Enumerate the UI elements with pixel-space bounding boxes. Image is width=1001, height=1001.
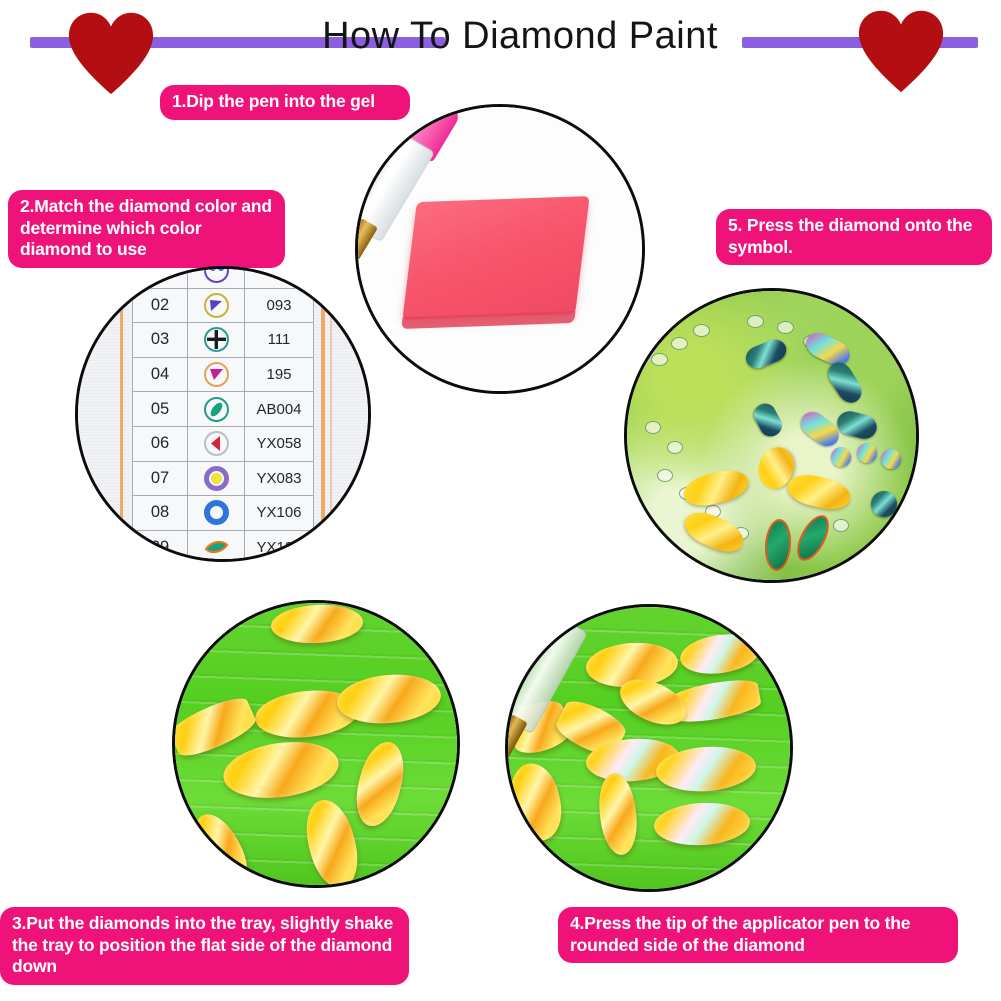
table-row: 01 028: [132, 266, 314, 289]
row-code: YX083: [245, 462, 314, 496]
step-4-photo: [505, 604, 793, 892]
row-number: 08: [132, 496, 188, 530]
row-code: AB004: [245, 392, 314, 426]
chart-edge-strip-left: [120, 269, 123, 559]
infographic-root: How To Diamond Paint 1.Dip the pen into …: [0, 0, 1001, 1001]
table-row: 05 AB004: [132, 392, 314, 427]
row-symbol: [188, 266, 245, 288]
row-number: 04: [132, 358, 188, 392]
table-row: 08 YX106: [132, 496, 314, 531]
step-1-photo: [355, 104, 645, 394]
row-code: 093: [245, 289, 314, 323]
thick-ring-icon: [204, 500, 229, 525]
yellow-diamonds-in-green-tray-image: [175, 603, 457, 885]
step-4-label: 4.Press the tip of the applicator pen to…: [558, 907, 958, 963]
table-row: 09 YX125: [132, 531, 314, 562]
double-dot-circle-icon: [204, 266, 229, 283]
table-row: 04 195: [132, 358, 314, 393]
plus-cross-icon: [204, 327, 229, 352]
row-code: YX106: [245, 496, 314, 530]
pink-gel-pad: [402, 196, 589, 320]
row-symbol: [188, 531, 245, 562]
row-code: YX125: [245, 531, 314, 562]
step-5-photo: [624, 288, 919, 583]
row-symbol: [188, 358, 245, 392]
pen-tip: [505, 714, 528, 763]
heart-icon-left: [65, 10, 157, 96]
chart-edge-strip-right-2: [330, 269, 332, 559]
dot-in-ring-icon: [204, 466, 229, 491]
row-symbol: [188, 392, 245, 426]
page-title: How To Diamond Paint: [300, 12, 740, 62]
chevron-left-icon: [204, 431, 229, 456]
pen-dipping-into-pink-gel-image: [358, 107, 642, 391]
pen-picking-up-diamond-from-tray-image: [508, 607, 790, 889]
row-symbol: [188, 427, 245, 461]
table-row: 03 111: [132, 323, 314, 358]
row-number: 07: [132, 462, 188, 496]
row-number: 03: [132, 323, 188, 357]
row-symbol: [188, 289, 245, 323]
step-2-photo: 01 028 02: [75, 266, 371, 562]
diamond-color-code-chart-image: 01 028 02: [78, 269, 368, 559]
heart-icon-right: [855, 8, 947, 94]
color-code-table: 01 028 02: [132, 266, 314, 562]
chart-edge-strip-right: [321, 269, 325, 559]
row-code: YX058: [245, 427, 314, 461]
row-number: 06: [132, 427, 188, 461]
table-row: 07 YX083: [132, 462, 314, 497]
row-code: 028: [245, 266, 314, 288]
slash-oval-icon: [204, 397, 229, 422]
row-number: 09: [132, 531, 188, 562]
step-2-label: 2.Match the diamond color and determine …: [8, 190, 285, 268]
triangle-right-icon: [204, 362, 229, 387]
triangle-left-icon: [204, 293, 229, 318]
step-3-photo: [172, 600, 460, 888]
table-row: 02 093: [132, 289, 314, 324]
row-number: 01: [132, 266, 188, 288]
table-row: 06 YX058: [132, 427, 314, 462]
row-code: 111: [245, 323, 314, 357]
row-number: 05: [132, 392, 188, 426]
leaf-shape-icon: [204, 535, 229, 560]
row-code: 195: [245, 358, 314, 392]
pen-placing-diamond-on-canvas-image: [627, 291, 916, 580]
row-number: 02: [132, 289, 188, 323]
row-symbol: [188, 462, 245, 496]
row-symbol: [188, 323, 245, 357]
step-5-label: 5. Press the diamond onto the symbol.: [716, 209, 992, 265]
step-3-label: 3.Put the diamonds into the tray, slight…: [0, 907, 409, 985]
row-symbol: [188, 496, 245, 530]
